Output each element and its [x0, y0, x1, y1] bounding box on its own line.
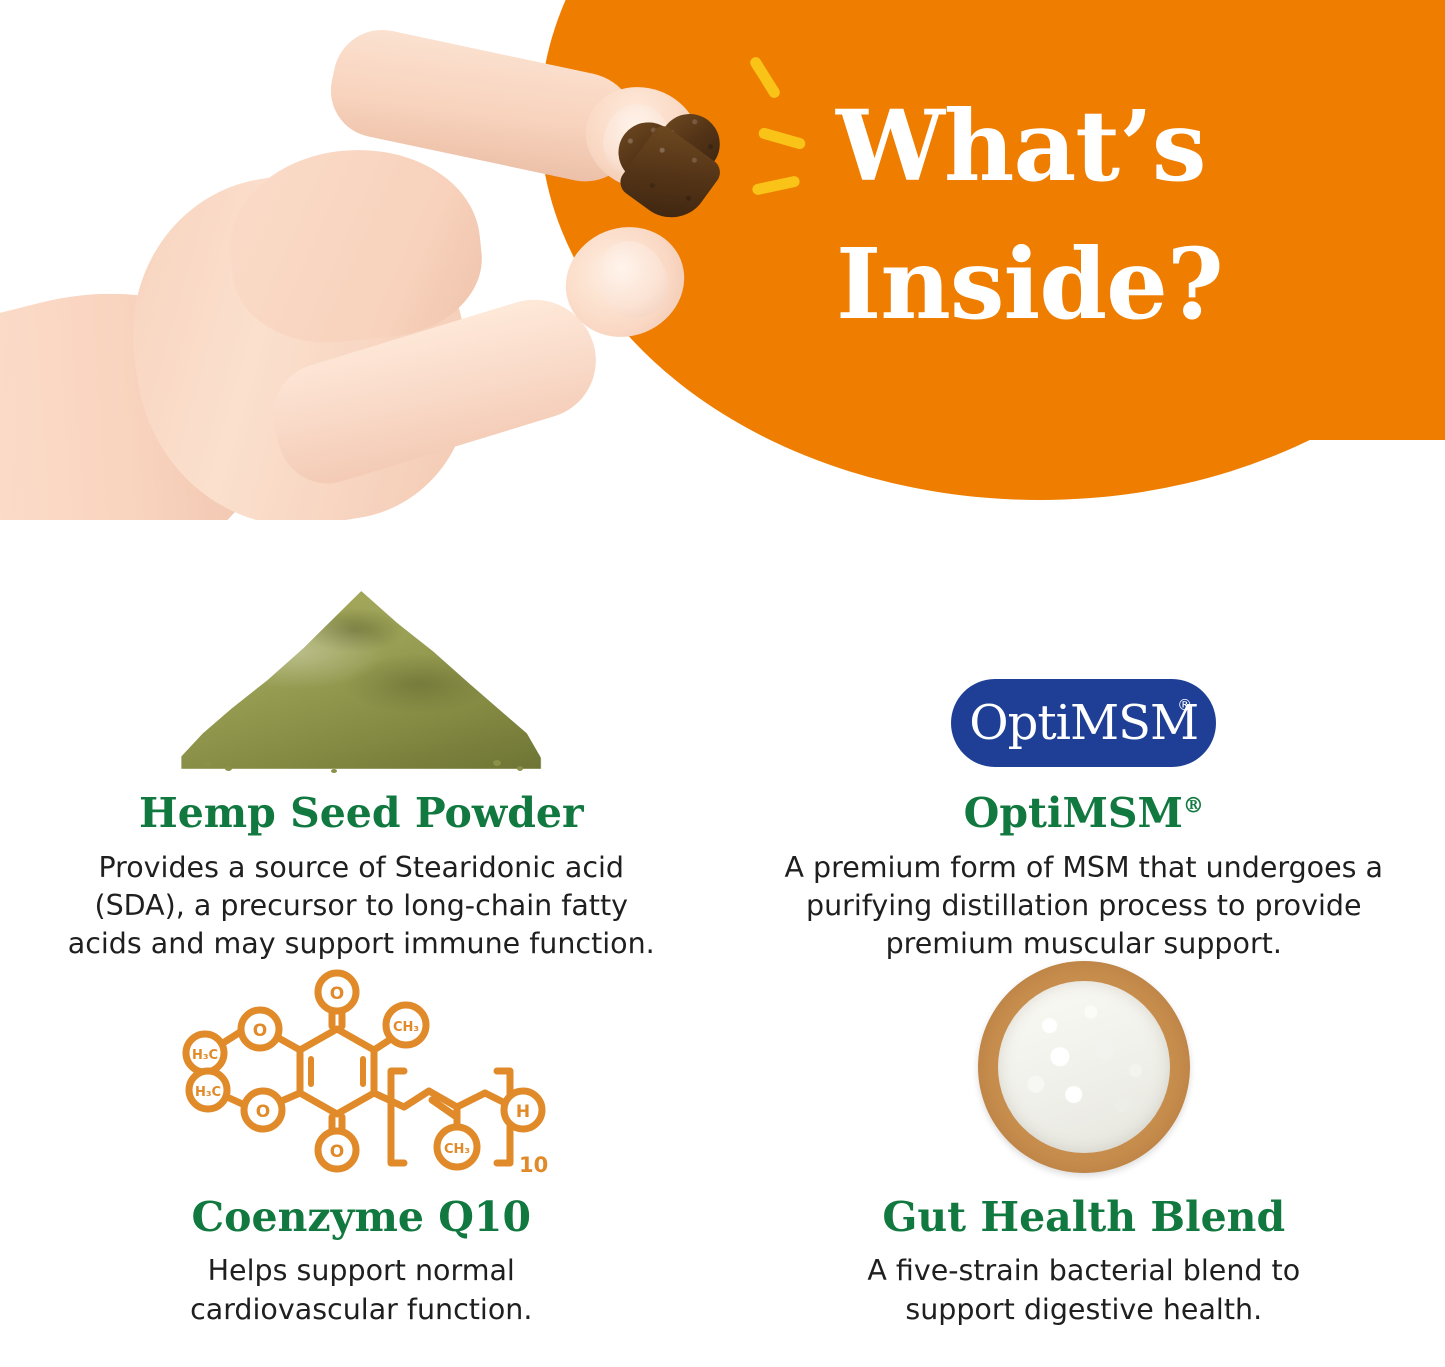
svg-text:CH₃: CH₃ — [444, 1142, 470, 1157]
registered-trademark-icon: ® — [1183, 792, 1204, 817]
ingredient-description: A premium form of MSM that undergoes a p… — [769, 849, 1399, 964]
ingredient-card-hemp-seed-powder: Hemp Seed Powder Provides a source of St… — [0, 560, 723, 964]
page-title: What’s Inside? — [836, 78, 1356, 353]
powder-crumb — [331, 769, 337, 773]
ingredient-card-gut-health-blend: Gut Health Blend A five-strain bacterial… — [723, 964, 1445, 1367]
molecule-atom-labels: O O H₃C H₃C O O CH₃ CH₃ — [186, 973, 548, 1177]
hemp-powder-visual — [34, 560, 689, 775]
ingredient-title: Coenzyme Q10 — [192, 1195, 532, 1241]
coq10-visual: O O H₃C H₃C O O CH₃ CH₃ — [34, 964, 689, 1179]
coq10-molecule-icon: O O H₃C H₃C O O CH₃ CH₃ — [161, 967, 561, 1179]
hand-holding-treat-photo — [0, 0, 760, 520]
powder-crumb — [225, 766, 232, 771]
powder-crumb — [517, 766, 523, 771]
molecule-repeat-count: 10 — [519, 1153, 548, 1177]
ingredient-title: OptiMSM® — [964, 791, 1204, 837]
optimsm-logo-text: OptiMSM — [969, 699, 1198, 747]
ingredient-description: Provides a source of Stearidonic acid (S… — [61, 849, 661, 964]
svg-text:O: O — [330, 1142, 344, 1162]
svg-text:H: H — [516, 1102, 530, 1122]
ingredient-description: Helps support normal cardiovascular func… — [146, 1252, 576, 1328]
ingredient-title: Gut Health Blend — [882, 1195, 1285, 1241]
ingredient-card-optimsm: OptiMSM ® OptiMSM® A premium form of MSM… — [723, 560, 1445, 964]
heart-treat-icon — [615, 111, 729, 221]
optimsm-visual: OptiMSM ® — [757, 560, 1412, 775]
optimsm-logo-badge: OptiMSM ® — [951, 679, 1216, 767]
ingredient-description: A five-strain bacterial blend to support… — [834, 1252, 1334, 1328]
white-powder — [998, 981, 1170, 1153]
ingredient-title: Hemp Seed Powder — [139, 791, 584, 837]
hero-banner: What’s Inside? — [0, 0, 1445, 520]
ingredient-title-text: Coenzyme Q10 — [192, 1193, 532, 1241]
ingredient-title-text: Hemp Seed Powder — [139, 789, 584, 837]
gut-health-visual — [757, 964, 1412, 1179]
registered-trademark-icon: ® — [1177, 696, 1192, 714]
ingredient-title-text: Gut Health Blend — [882, 1193, 1285, 1241]
svg-text:H₃C: H₃C — [195, 1085, 221, 1100]
hemp-powder-mound-icon — [181, 575, 541, 775]
wooden-bowl-icon — [978, 961, 1190, 1173]
ingredients-grid: Hemp Seed Powder Provides a source of St… — [0, 560, 1445, 1367]
svg-text:H₃C: H₃C — [192, 1048, 218, 1063]
svg-text:O: O — [330, 984, 344, 1004]
ingredient-card-coenzyme-q10: O O H₃C H₃C O O CH₃ CH₃ — [0, 964, 723, 1367]
svg-text:O: O — [253, 1021, 267, 1041]
ingredient-title-text: OptiMSM — [964, 789, 1183, 837]
svg-text:O: O — [256, 1102, 270, 1122]
svg-text:CH₃: CH₃ — [393, 1020, 419, 1035]
powder-pile — [181, 591, 541, 769]
